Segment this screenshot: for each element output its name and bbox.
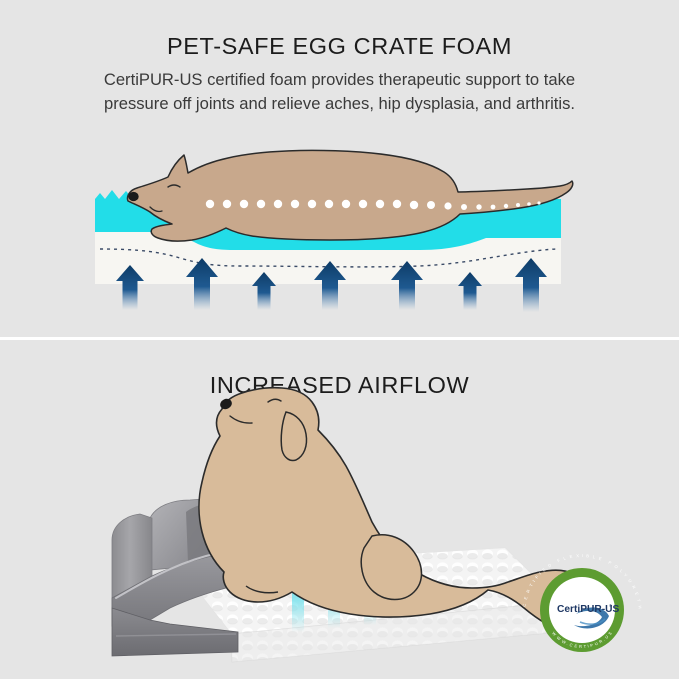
panel-pet-safe-egg-crate-foam: PET-SAFE EGG CRATE FOAM CertiPUR-US cert… [0, 0, 679, 337]
illustration-foam-cross-section [0, 0, 679, 337]
seal-registered-mark: ® [609, 603, 612, 608]
product-infographic: PET-SAFE EGG CRATE FOAM CertiPUR-US cert… [0, 0, 679, 679]
dog-nose [128, 192, 138, 201]
illustration-bolster-bed-airflow: CONTAINS CERTIFIED FLEXIBLE POLYURETHANE… [0, 340, 679, 679]
panel-increased-airflow: INCREASED AIRFLOW [0, 340, 679, 679]
